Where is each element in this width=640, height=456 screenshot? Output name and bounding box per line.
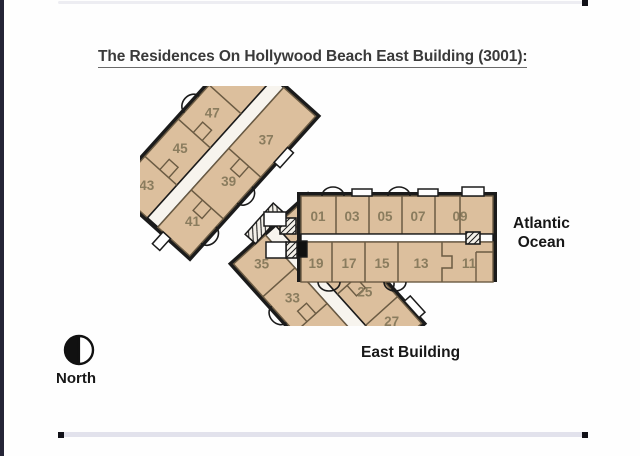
unit-label-01: 01: [310, 209, 326, 224]
unit-number: 25: [357, 284, 373, 299]
unit-number: 31: [316, 325, 332, 326]
unit-number: 41: [185, 214, 201, 229]
left-edge-strip: [0, 0, 4, 456]
unit-number: 39: [221, 174, 236, 189]
label-atlantic-ocean: Atlantic Ocean: [513, 214, 570, 253]
bottom-divider-handle-right[interactable]: [582, 432, 588, 438]
unit-number: 43: [140, 178, 155, 193]
unit-number: 47: [205, 105, 220, 120]
unit-label-19: 19: [308, 256, 323, 271]
label-east-building: East Building: [361, 343, 460, 362]
floorplan-diagram: 43 45 47 49 41 39 37: [140, 86, 510, 326]
unit-number: 33: [285, 290, 301, 305]
unit-label-15: 15: [374, 256, 390, 271]
floorplan-page: The Residences On Hollywood Beach East B…: [0, 0, 640, 456]
label-north: North: [56, 370, 96, 389]
bottom-divider-handle-left[interactable]: [58, 432, 64, 438]
wing-east: 01 03 05 07 09 19 17 15 13 11: [297, 187, 497, 291]
unit-label-17: 17: [341, 256, 356, 271]
unit-number: 45: [173, 141, 189, 156]
unit-number: 27: [384, 314, 399, 326]
unit-label-13: 13: [413, 256, 429, 271]
unit-label-09: 09: [452, 209, 467, 224]
bottom-divider-rule: [60, 432, 585, 437]
unit-label-05: 05: [377, 209, 393, 224]
page-title: The Residences On Hollywood Beach East B…: [98, 48, 527, 68]
unit-label-07: 07: [410, 209, 425, 224]
unit-number: 37: [259, 132, 274, 147]
compass-north-icon: [62, 333, 96, 367]
east-stair-core: [466, 232, 480, 244]
top-divider-rule: [58, 1, 586, 4]
unit-label-11: 11: [462, 256, 477, 271]
unit-label-03: 03: [344, 209, 360, 224]
top-divider-handle-right[interactable]: [582, 0, 588, 6]
